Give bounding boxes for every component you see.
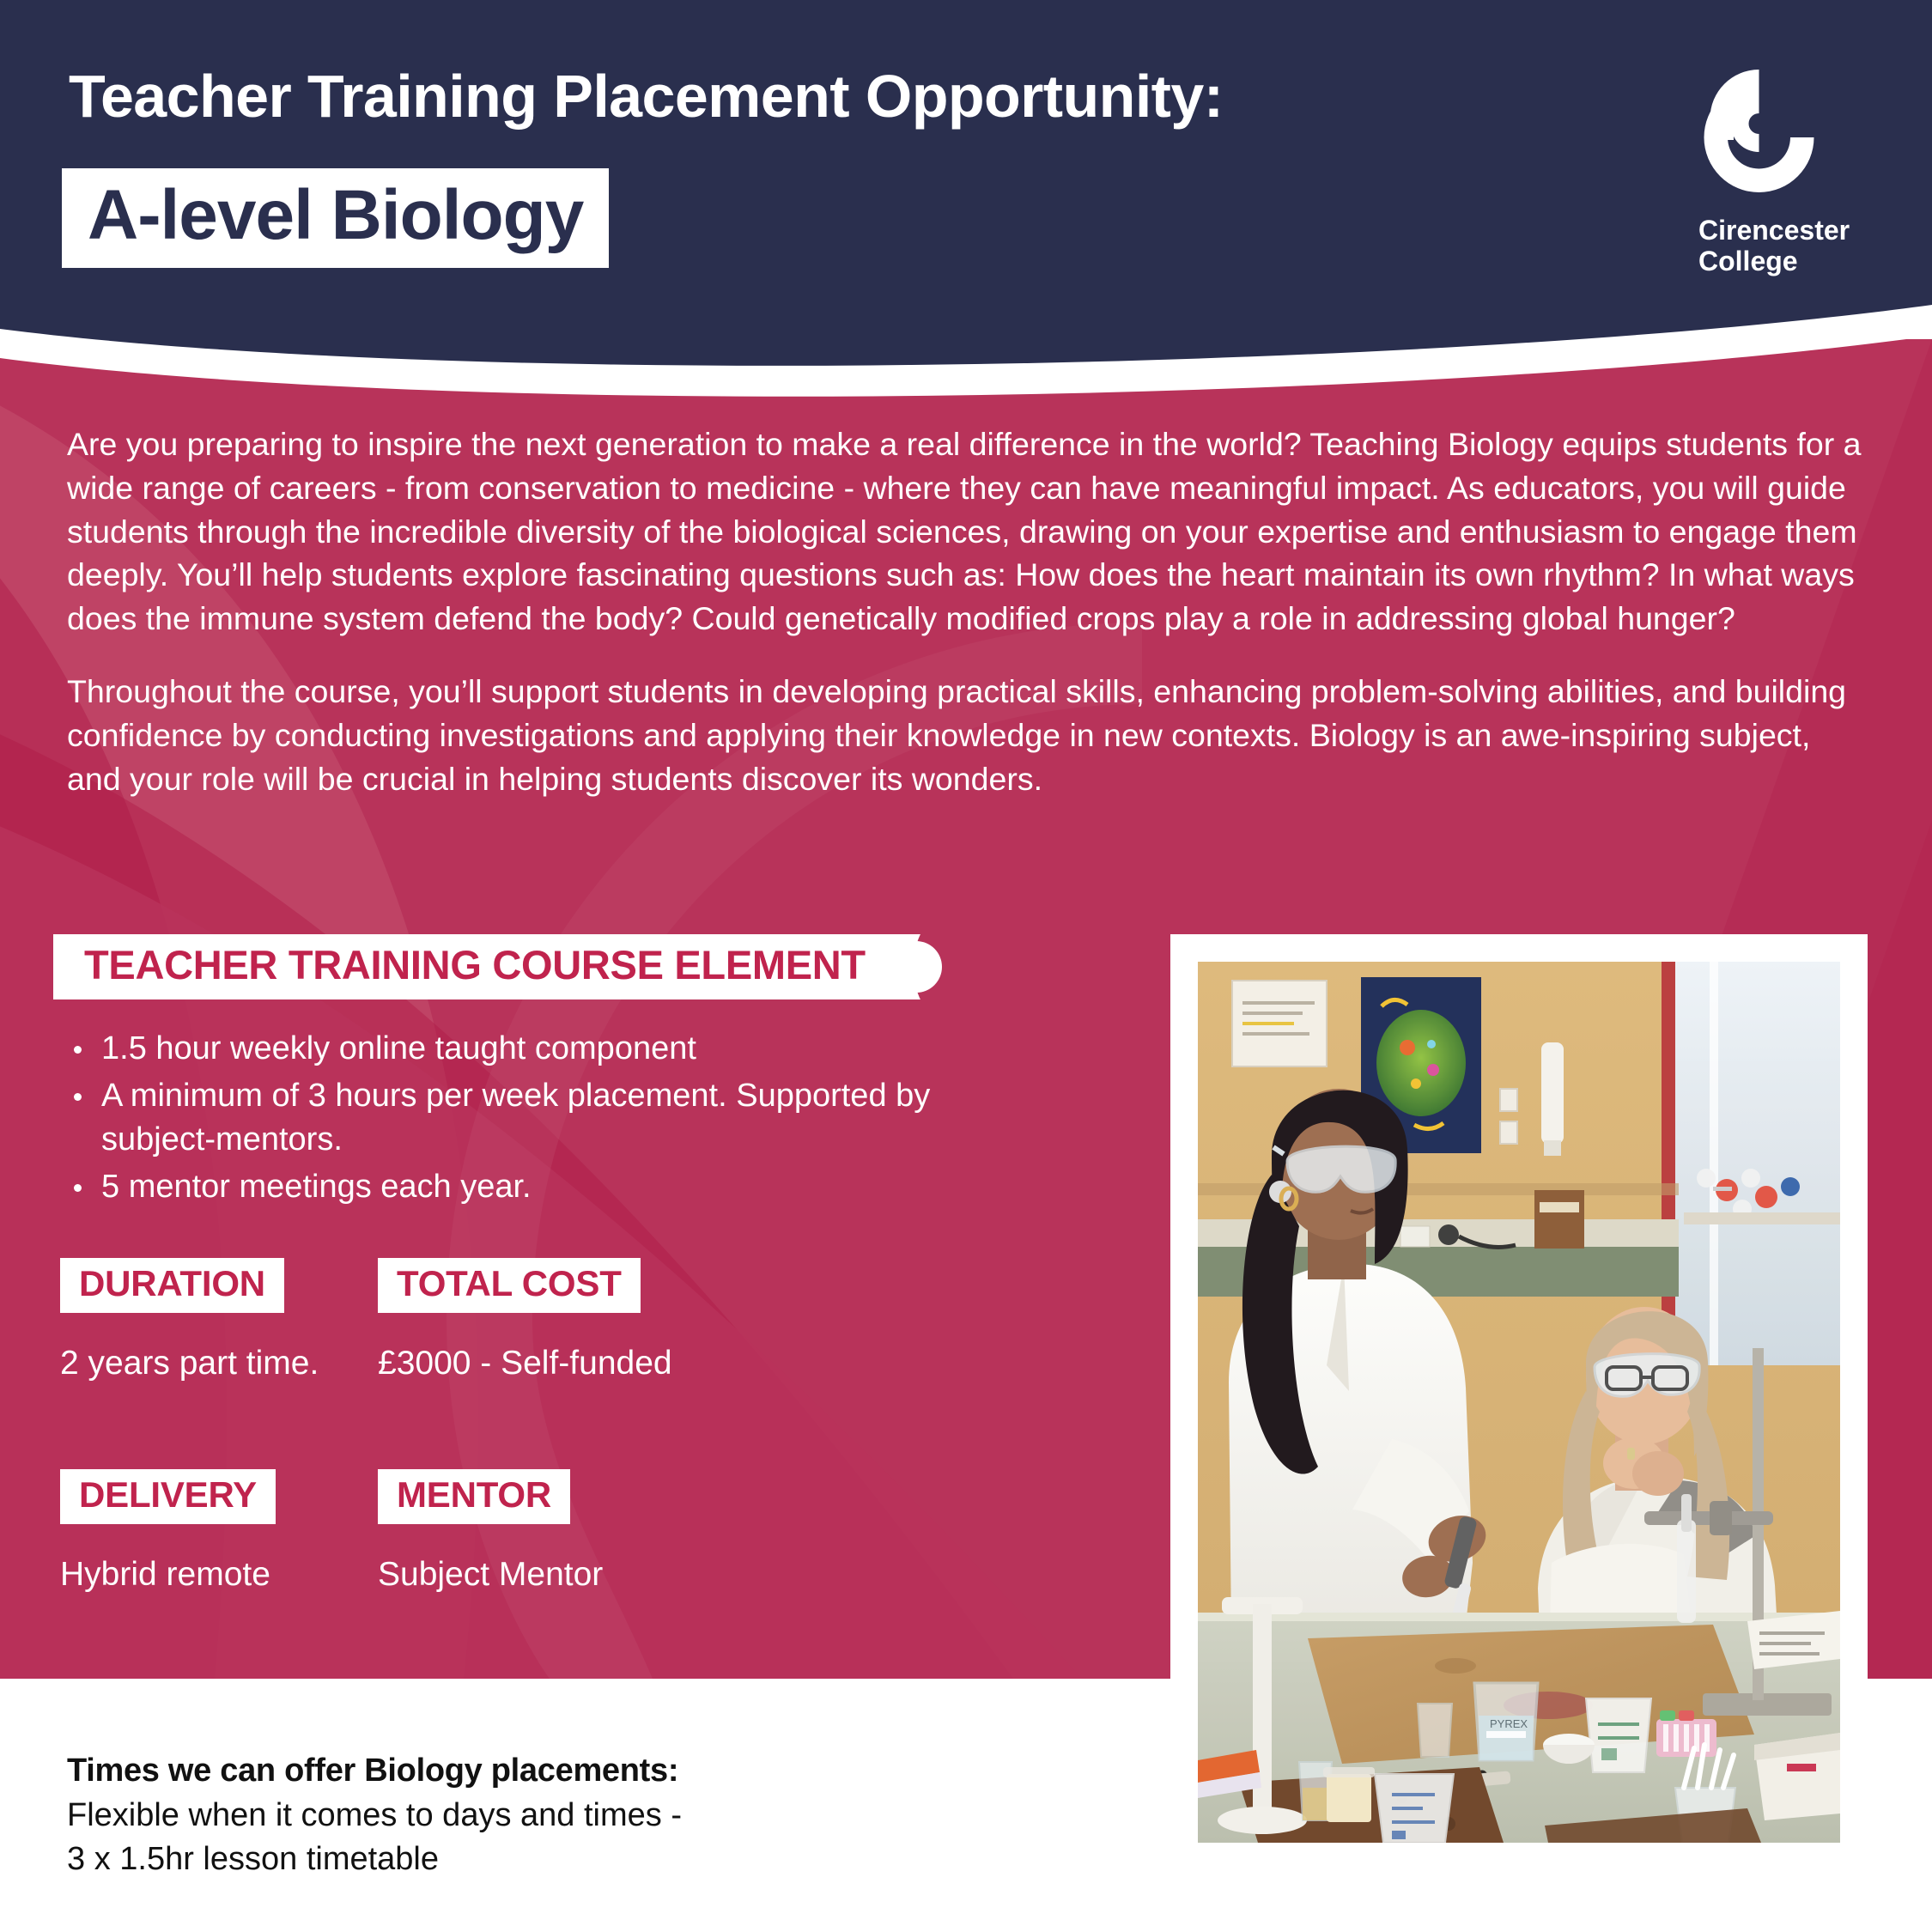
- bullet-list: 1.5 hour weekly online taught component …: [62, 1027, 1049, 1209]
- course-details-row: DELIVERY Hybrid remote MENTOR Subject Me…: [60, 1469, 953, 1680]
- detail-total-cost: TOTAL COST £3000 - Self-funded: [378, 1258, 824, 1384]
- status-badge: DURATION: [60, 1258, 284, 1313]
- status-badge: TOTAL COST: [378, 1258, 641, 1313]
- page-title-kicker: Teacher Training Placement Opportunity:: [69, 62, 1223, 131]
- course-element-banner: TEACHER TRAINING COURSE ELEMENT: [53, 934, 981, 999]
- status-badge: DELIVERY: [60, 1469, 276, 1524]
- list-item: 5 mentor meetings each year.: [62, 1165, 1049, 1209]
- photo-card: PYREX: [1170, 934, 1868, 1870]
- list-item: A minimum of 3 hours per week placement.…: [62, 1074, 1049, 1162]
- footer-heading: Times we can offer Biology placements:: [67, 1750, 1097, 1792]
- cirencester-college-logo-icon: [1688, 67, 1830, 206]
- logo-text-line2: College: [1698, 246, 1798, 276]
- course-element-bullets: 1.5 hour weekly online taught component …: [62, 1027, 1049, 1212]
- page-title-highlight: A-level Biology: [62, 168, 609, 268]
- photo-illustration: PYREX: [1198, 962, 1840, 1843]
- status-badge: MENTOR: [378, 1469, 570, 1524]
- biology-lab-students-photo: PYREX: [1198, 962, 1840, 1843]
- intro-copy: Are you preparing to inspire the next ge…: [67, 422, 1870, 801]
- logo: Cirencester College: [1647, 67, 1862, 282]
- footer-line-2: 3 x 1.5hr lesson timetable: [67, 1838, 1097, 1881]
- course-details-row: DURATION 2 years part time. TOTAL COST £…: [60, 1258, 953, 1469]
- list-item: 1.5 hour weekly online taught component: [62, 1027, 1049, 1071]
- intro-paragraph-2: Throughout the course, you’ll support st…: [67, 670, 1870, 800]
- course-details-grid: DURATION 2 years part time. TOTAL COST £…: [60, 1258, 953, 1680]
- logo-text-line1: Cirencester: [1698, 215, 1850, 246]
- footer-availability: Times we can offer Biology placements: F…: [67, 1750, 1097, 1881]
- poster-root: Teacher Training Placement Opportunity: …: [0, 0, 1932, 1932]
- logo-text: Cirencester College: [1647, 215, 1862, 277]
- detail-value: £3000 - Self-funded: [378, 1344, 824, 1384]
- detail-mentor: MENTOR Subject Mentor: [378, 1469, 824, 1595]
- header-content: Teacher Training Placement Opportunity: …: [0, 0, 1932, 343]
- course-element-banner-label: TEACHER TRAINING COURSE ELEMENT: [84, 945, 866, 985]
- footer-line-1: Flexible when it comes to days and times…: [67, 1794, 1097, 1838]
- page-title: A-level Biology: [88, 180, 583, 251]
- intro-paragraph-1: Are you preparing to inspire the next ge…: [67, 422, 1870, 641]
- detail-value: Subject Mentor: [378, 1555, 824, 1595]
